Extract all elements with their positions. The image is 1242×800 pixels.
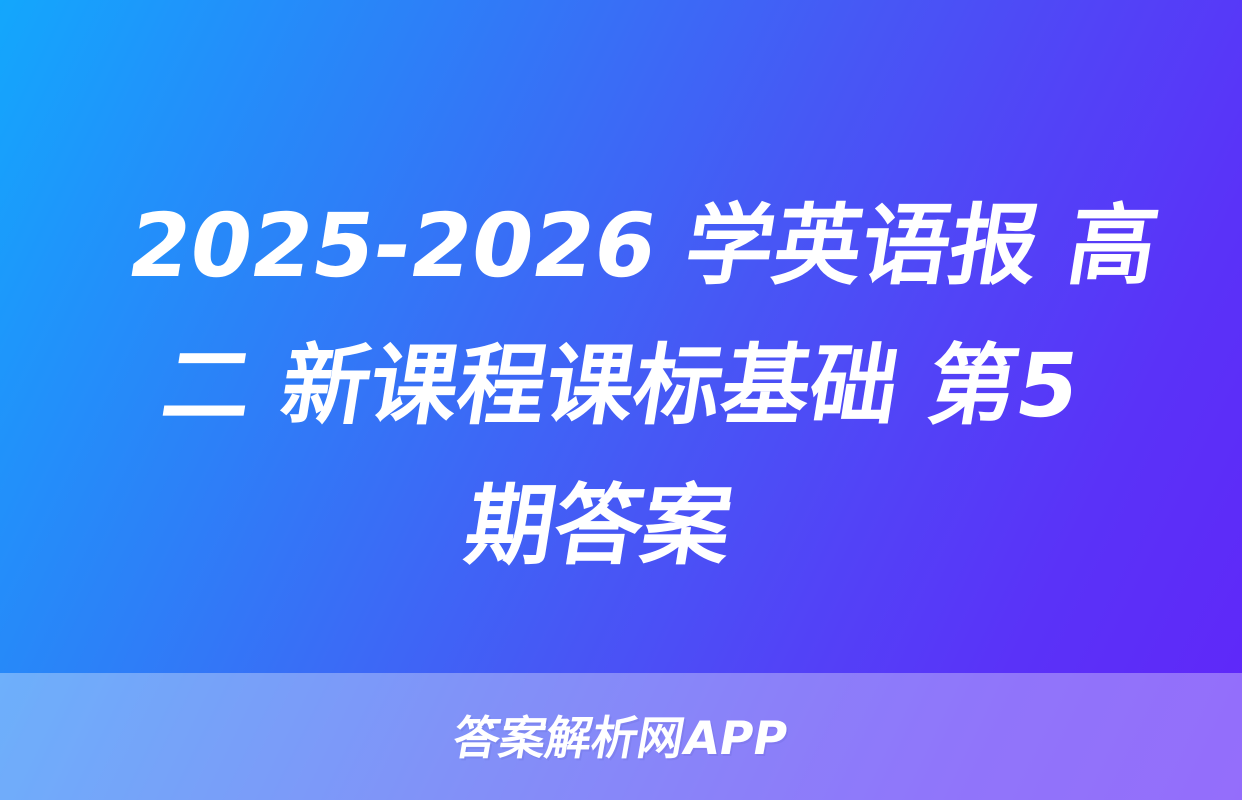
app-watermark-label: 答案解析网APP — [450, 715, 791, 761]
headline-line-3: 期答案 — [0, 456, 1231, 596]
headline-line-2: 二 新课程课标基础 第5 — [0, 316, 1242, 456]
promo-banner: 2025-2026 学英语报 高 二 新课程课标基础 第5 期答案 答案解析网A… — [0, 0, 1242, 800]
headline-line-1: 2025-2026 学英语报 高 — [11, 176, 1242, 316]
page-title: 2025-2026 学英语报 高 二 新课程课标基础 第5 期答案 — [0, 176, 1242, 596]
footer-watermark-band: 答案解析网APP — [0, 673, 1242, 800]
